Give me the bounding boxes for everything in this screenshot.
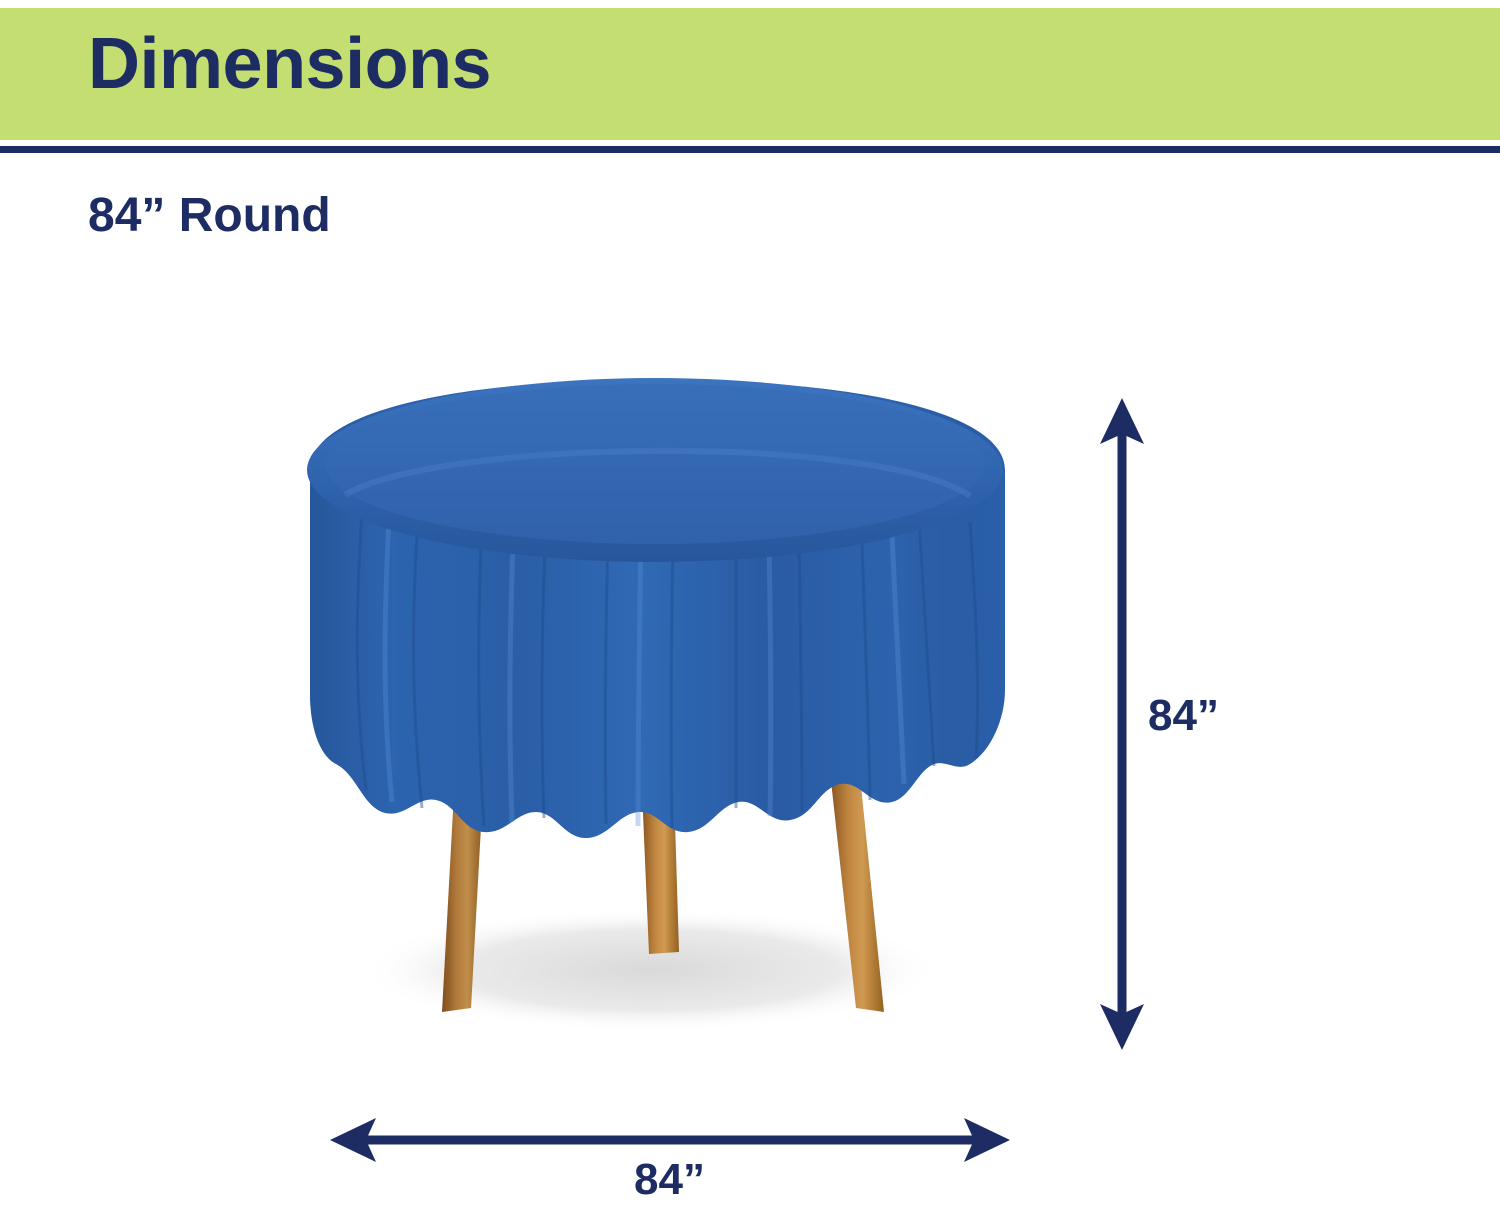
size-subtitle: 84” Round — [88, 192, 331, 240]
header-divider — [0, 146, 1500, 153]
tablecloth-illustration — [270, 360, 1050, 1070]
product-illustration — [270, 360, 1050, 1070]
vertical-dimension-label: 84” — [1148, 694, 1219, 738]
horizontal-dimension-label: 84” — [634, 1158, 705, 1202]
vertical-dimension-arrow — [1092, 398, 1152, 1050]
tablecloth-top — [307, 378, 1003, 562]
page-title: Dimensions — [88, 28, 491, 100]
